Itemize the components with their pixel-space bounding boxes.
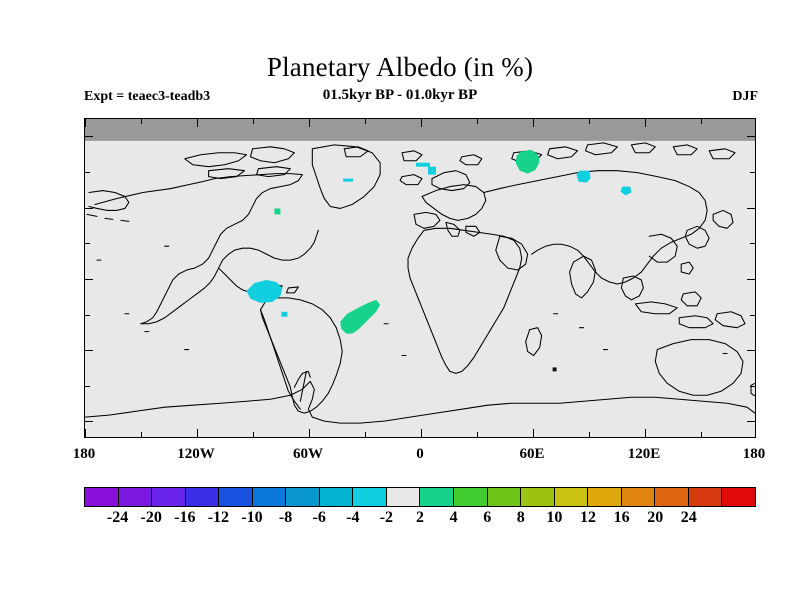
season-label: DJF	[732, 88, 758, 106]
xaxis-label-1: 120W	[177, 446, 215, 463]
anomaly-barents-sea-positive	[516, 150, 540, 174]
colorbar-cell-11	[454, 488, 488, 506]
xtick-top	[141, 118, 142, 124]
colorbar-tick-label: -20	[141, 509, 162, 527]
xtick-120e	[645, 429, 646, 438]
colorbar-tick-label: -2	[380, 509, 393, 527]
colorbar-cell-16	[622, 488, 656, 506]
xtick-top	[701, 118, 702, 124]
xtick-minor	[141, 432, 142, 438]
xtick-top	[589, 118, 590, 124]
colorbar-tick-label: 24	[681, 509, 697, 527]
ytick-80s	[84, 421, 93, 422]
ytick-right	[747, 421, 756, 422]
experiment-label: Expt = teaec3-teadb3	[84, 88, 210, 106]
xaxis-label-6: 180	[743, 446, 766, 463]
ytick-right	[747, 279, 756, 280]
colorbar-cell-4	[219, 488, 253, 506]
colorbar-cell-19	[722, 488, 755, 506]
anomaly-south-atlantic-point	[553, 367, 557, 371]
colorbar-tick-label: -16	[174, 509, 195, 527]
xtick-top	[309, 118, 310, 127]
xaxis-label-2: 60W	[293, 446, 323, 463]
colorbar-tick-label: 4	[450, 509, 458, 527]
xtick-top	[85, 118, 86, 127]
ytick-right	[747, 208, 756, 209]
xaxis-label-5: 120E	[628, 446, 661, 463]
page-title: Planetary Albedo (in %)	[0, 52, 800, 82]
colorbar-tick-label: 16	[614, 509, 630, 527]
colorbar-cell-14	[555, 488, 589, 506]
colorbar-tick-label: -8	[279, 509, 292, 527]
colorbar-cell-2	[152, 488, 186, 506]
colorbar-cell-12	[488, 488, 522, 506]
colorbar-cell-3	[186, 488, 220, 506]
xtick-top	[365, 118, 366, 124]
xtick-top	[645, 118, 646, 127]
colorbar-legend	[84, 487, 756, 507]
colorbar-cell-5	[253, 488, 287, 506]
anomaly-greenland-sea-negative-b	[428, 167, 436, 175]
polar-mask-band	[85, 119, 755, 141]
ytick-minor	[84, 172, 90, 173]
colorbar-tick-label: -4	[346, 509, 359, 527]
xtick-top	[253, 118, 254, 124]
colorbar-cell-17	[655, 488, 689, 506]
xtick-180e	[755, 429, 756, 438]
xtick-60e	[533, 429, 534, 438]
coastlines	[85, 143, 755, 423]
xtick-minor	[253, 432, 254, 438]
xtick-0	[421, 429, 422, 438]
anomaly-amazon-interior-negative	[281, 312, 287, 317]
colorbar-cell-0	[85, 488, 119, 506]
colorbar-tick-label: 10	[546, 509, 562, 527]
xtick-180w	[85, 429, 86, 438]
xaxis-label-0: 180	[73, 446, 96, 463]
ytick-minor	[84, 243, 90, 244]
xtick-120w	[197, 429, 198, 438]
colorbar-cell-15	[588, 488, 622, 506]
ytick-right	[750, 172, 756, 173]
xtick-minor	[365, 432, 366, 438]
map-plot-area	[84, 118, 756, 438]
colorbar-cell-13	[521, 488, 555, 506]
colorbar-cell-6	[286, 488, 320, 506]
colorbar-tick-label: -6	[313, 509, 326, 527]
ytick-right	[747, 350, 756, 351]
ytick-right	[750, 386, 756, 387]
colorbar-cell-8	[353, 488, 387, 506]
anomaly-baffin-negative	[343, 179, 353, 182]
colorbar-tick-label: 12	[580, 509, 596, 527]
colorbar-tick-label: -12	[208, 509, 229, 527]
ytick-40n	[84, 208, 93, 209]
anomaly-brazil-positive	[340, 300, 380, 334]
xtick-top	[197, 118, 198, 127]
ytick-40s	[84, 350, 93, 351]
colorbar-cell-1	[119, 488, 153, 506]
colorbar-strip	[84, 487, 756, 507]
anomaly-patches	[247, 150, 632, 372]
xtick-top	[477, 118, 478, 124]
xaxis-label-4: 60E	[519, 446, 544, 463]
anomaly-central-asia-negative-b	[620, 187, 631, 196]
world-map	[85, 119, 755, 437]
colorbar-tick-label: 2	[416, 509, 424, 527]
colorbar-tick-label: 8	[517, 509, 525, 527]
anomaly-peru-upwelling-negative	[247, 280, 283, 303]
ytick-right	[747, 136, 756, 137]
ytick-right	[750, 315, 756, 316]
colorbar-cell-9	[387, 488, 421, 506]
xtick-top	[755, 118, 756, 127]
colorbar-tick-label: 20	[647, 509, 663, 527]
xtick-minor	[701, 432, 702, 438]
colorbar-tick-label: 6	[483, 509, 491, 527]
ytick-right	[750, 243, 756, 244]
colorbar-cell-18	[689, 488, 723, 506]
ytick-0	[84, 279, 93, 280]
ytick-80n	[84, 136, 93, 137]
ytick-minor	[84, 386, 90, 387]
colorbar-tick-label: -10	[241, 509, 262, 527]
anomaly-hudson-bay-positive	[274, 208, 280, 214]
anomaly-central-asia-negative-a	[577, 171, 591, 183]
xtick-top	[421, 118, 422, 127]
xaxis-label-3: 0	[416, 446, 424, 463]
colorbar-cell-10	[420, 488, 454, 506]
colorbar-cell-7	[320, 488, 354, 506]
xtick-minor	[477, 432, 478, 438]
xtick-top	[533, 118, 534, 127]
xtick-minor	[589, 432, 590, 438]
xtick-60w	[309, 429, 310, 438]
colorbar-tick-label: -24	[107, 509, 128, 527]
anomaly-greenland-sea-negative	[416, 163, 430, 167]
ytick-minor	[84, 315, 90, 316]
